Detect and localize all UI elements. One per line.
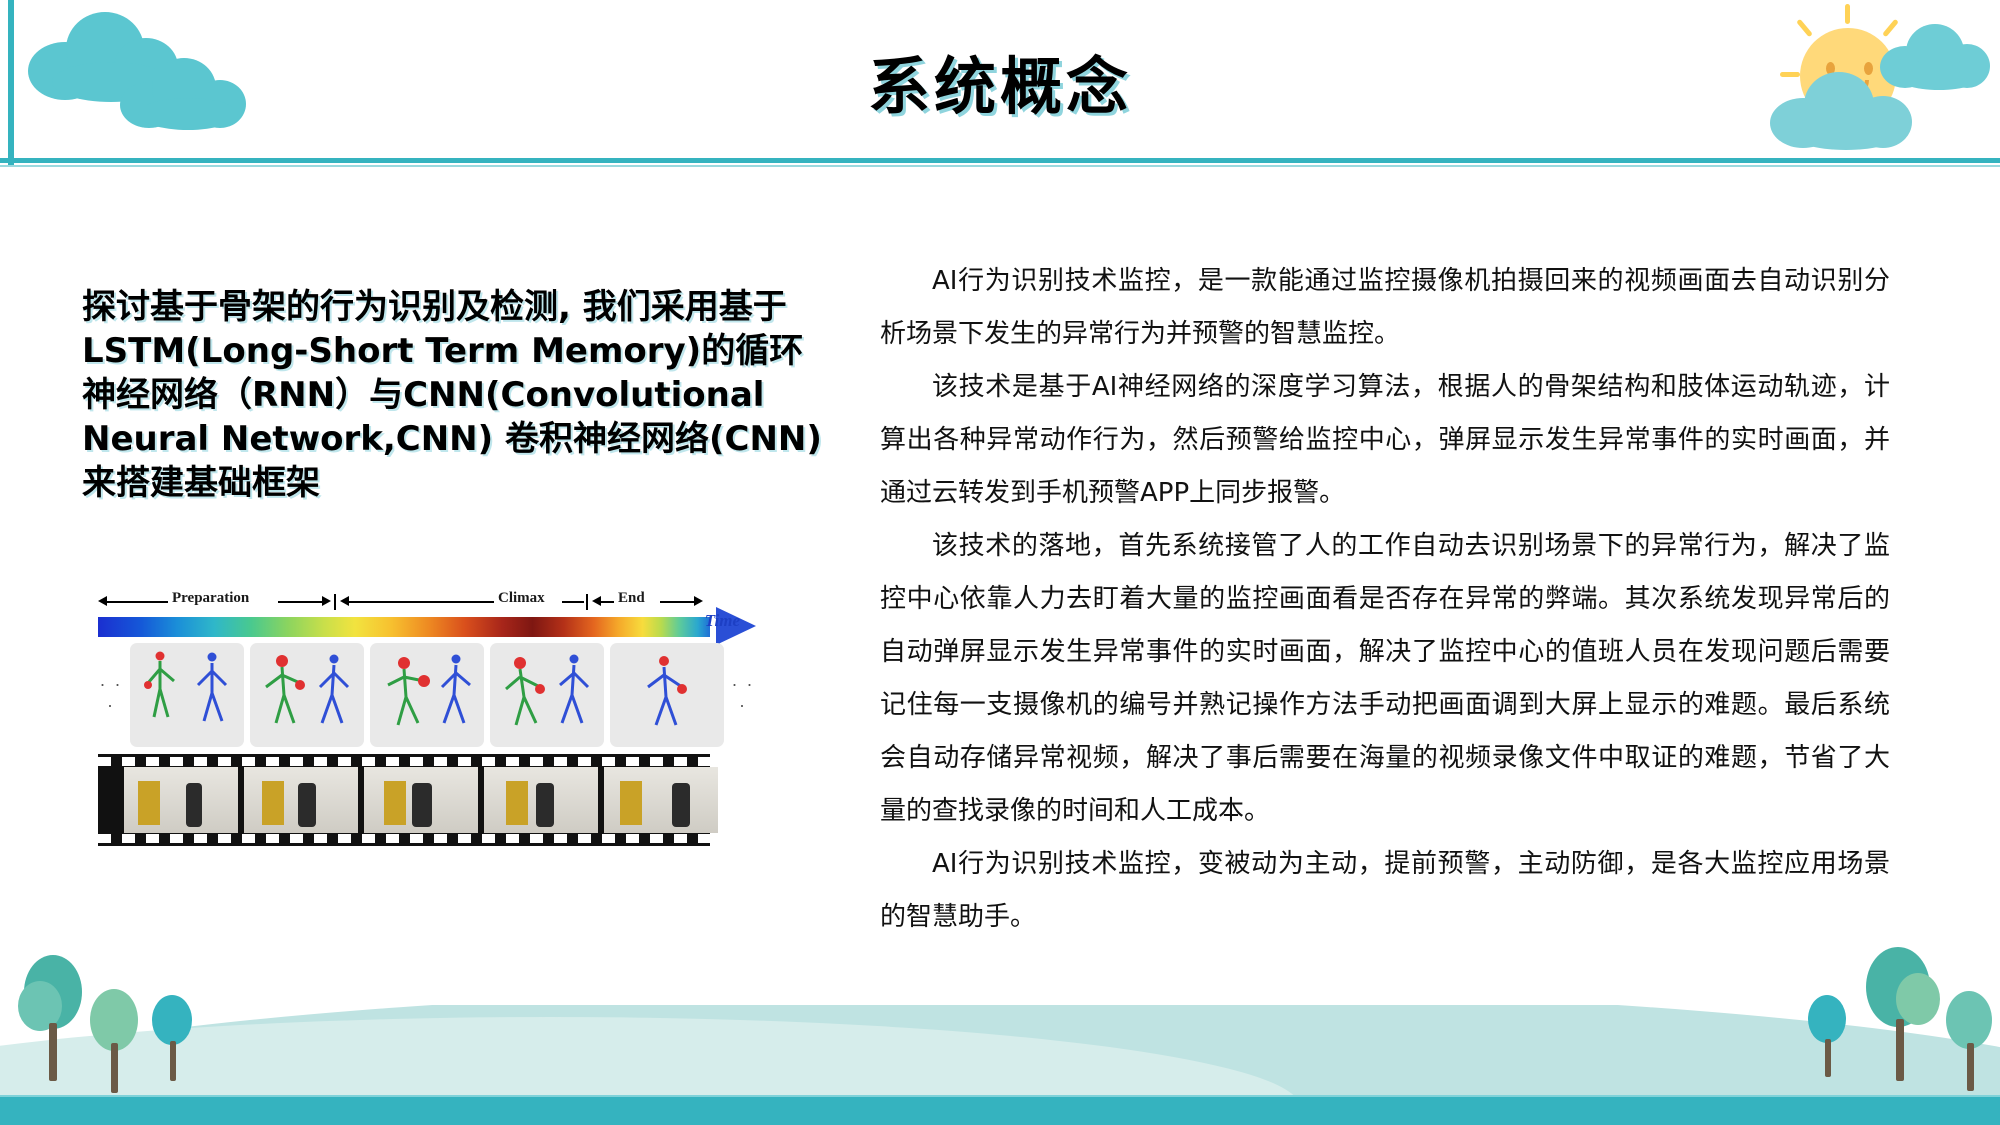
- skeleton-panel: [370, 643, 484, 747]
- time-label: Time: [705, 611, 740, 631]
- tree-icon: [18, 955, 88, 1085]
- footer-band: [0, 1097, 2000, 1125]
- body-paragraph: 该技术的落地，首先系统接管了人的工作自动去识别场景下的异常行为，解决了监控中心依…: [880, 520, 1890, 838]
- video-frame: [244, 767, 358, 833]
- axis-label-climax: Climax: [498, 590, 545, 607]
- skeleton-panel: [490, 643, 604, 747]
- header-divider-secondary: [0, 165, 2000, 167]
- video-filmstrip: · · ·: [98, 754, 710, 846]
- skeleton-pose-svg: [250, 643, 364, 747]
- axis-label-preparation: Preparation: [172, 590, 249, 607]
- skeleton-panel: [610, 643, 724, 747]
- skeleton-pose-svg: [610, 643, 724, 747]
- tree-icon: [150, 995, 194, 1081]
- body-paragraph: AI行为识别技术监控，变被动为主动，提前预警，主动防御，是各大监控应用场景的智慧…: [880, 838, 1890, 944]
- skeleton-panel: [130, 643, 244, 747]
- ellipsis-left: · · ·: [98, 674, 124, 716]
- skeleton-action-figure: Preparation Climax End Time · · ·: [98, 590, 758, 846]
- body-paragraph: AI行为识别技术监控，是一款能通过监控摄像机拍摄回来的视频画面去自动识别分析场景…: [880, 255, 1890, 361]
- time-gradient-bar: [98, 617, 710, 637]
- tree-icon: [1858, 947, 1938, 1087]
- header-divider: [0, 158, 2000, 163]
- page-title: 系统概念: [0, 36, 2000, 126]
- video-frame: [124, 767, 238, 833]
- video-frame: [484, 767, 598, 833]
- skeleton-pose-svg: [130, 643, 244, 747]
- body-paragraph: 该技术是基于AI神经网络的深度学习算法，根据人的骨架结构和肢体运动轨迹，计算出各…: [880, 361, 1890, 520]
- slide-header: 系统概念: [0, 0, 2000, 160]
- video-frame: [364, 767, 478, 833]
- slide-footer: [0, 1005, 2000, 1125]
- skeleton-panel-row: · · ·: [98, 643, 758, 747]
- right-content-column: AI行为识别技术监控，是一款能通过监控摄像机拍摄回来的视频画面去自动识别分析场景…: [880, 255, 1890, 944]
- tree-icon: [86, 985, 142, 1095]
- film-perforations-bottom: [98, 834, 710, 843]
- figure-timeline-axis: Preparation Climax End: [98, 590, 758, 616]
- ellipsis-right: · · ·: [730, 674, 756, 716]
- film-perforations-top: [98, 757, 710, 766]
- skeleton-pose-svg: [490, 643, 604, 747]
- left-heading-text: 探讨基于骨架的行为识别及检测, 我们采用基于LSTM(Long-Short Te…: [82, 285, 827, 505]
- axis-label-end: End: [618, 590, 645, 607]
- ellipsis-filmstrip: · · ·: [724, 769, 732, 832]
- slide-root: 系统概念 探讨基于骨架的行为识别及检测, 我们采用基于LSTM(Long-Sho…: [0, 0, 2000, 1125]
- tree-icon: [1944, 987, 1998, 1095]
- tree-icon: [1806, 995, 1848, 1079]
- skeleton-pose-svg: [370, 643, 484, 747]
- left-content-column: 探讨基于骨架的行为识别及检测, 我们采用基于LSTM(Long-Short Te…: [82, 285, 827, 505]
- video-frame: [604, 767, 718, 833]
- skeleton-panel: [250, 643, 364, 747]
